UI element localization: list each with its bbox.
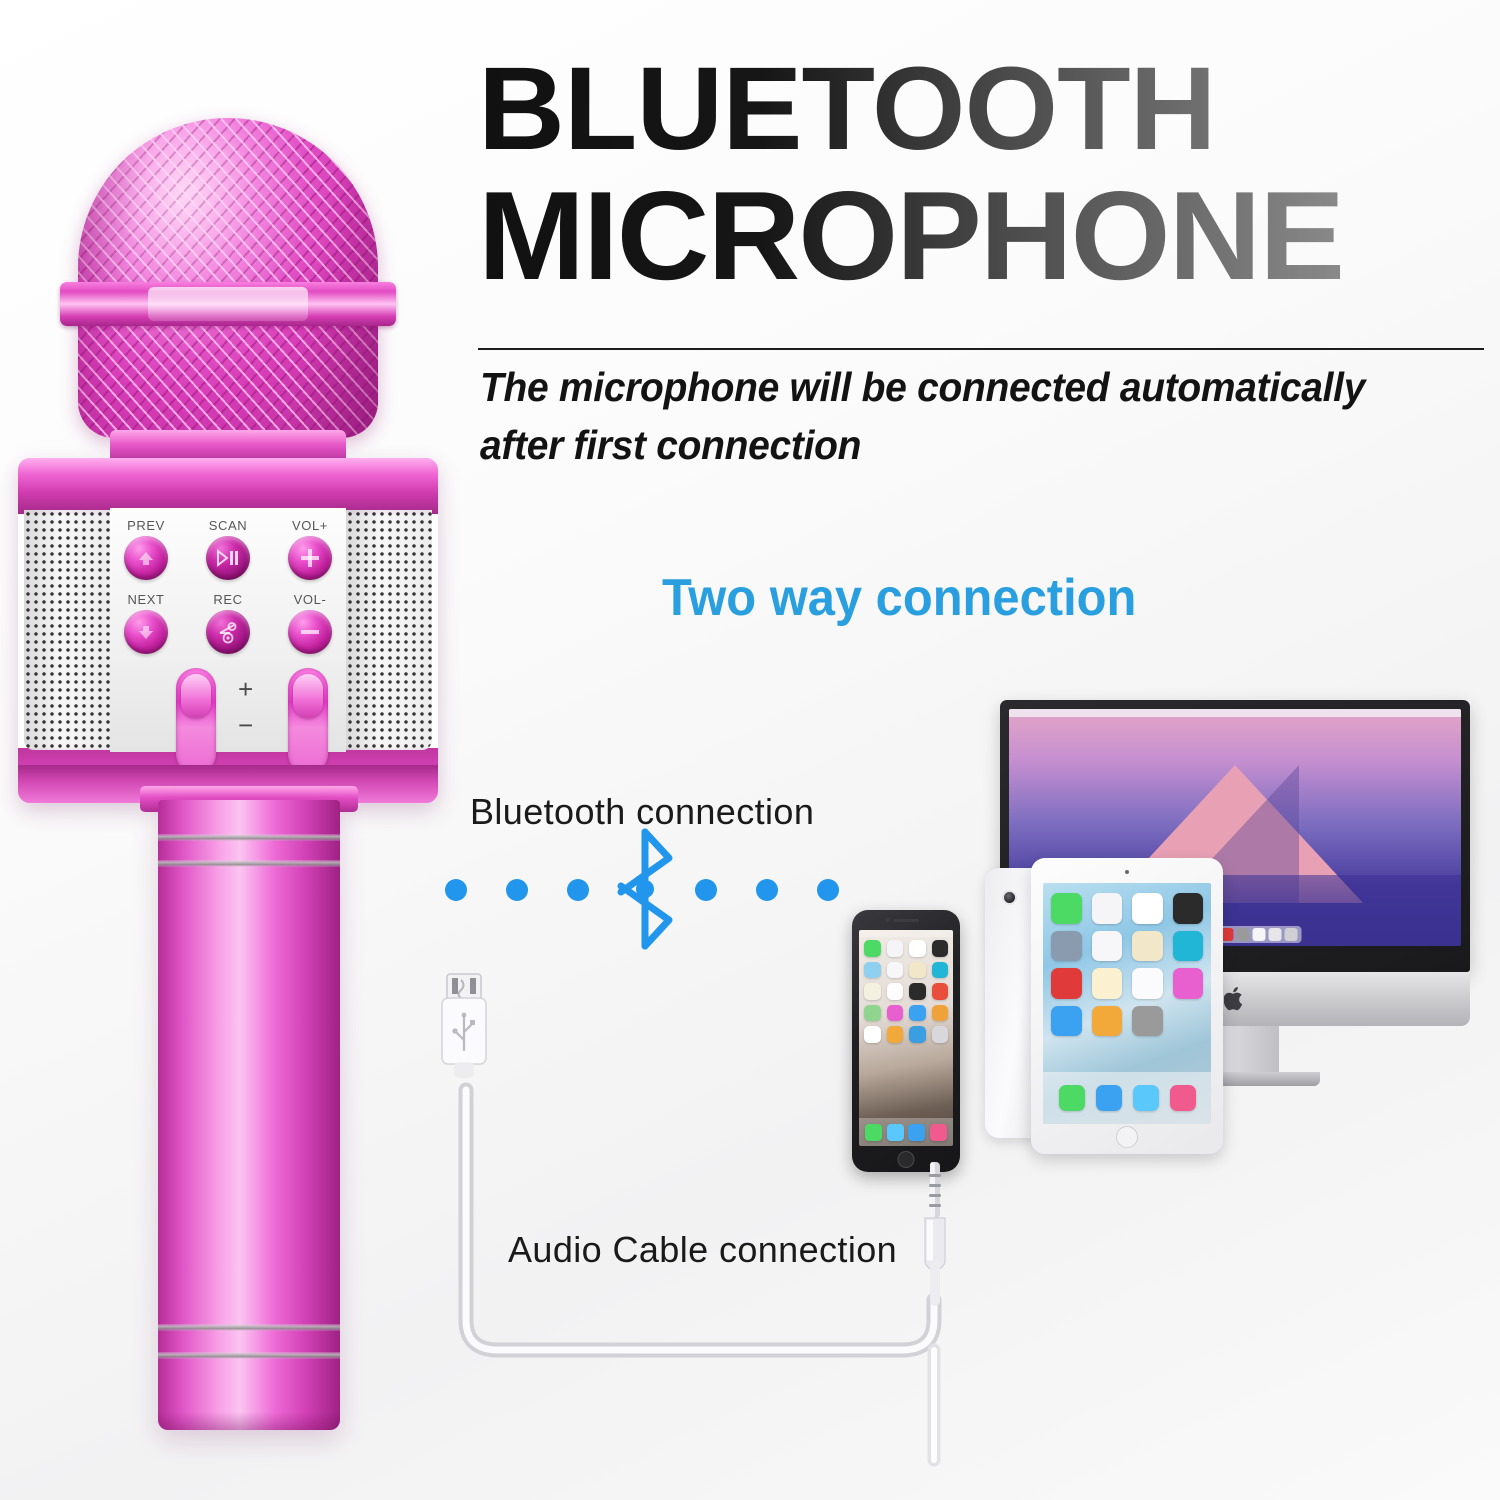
app-icon[interactable] xyxy=(1132,1006,1163,1037)
scan-label: SCAN xyxy=(198,518,258,533)
two-way-connection-heading: Two way connection xyxy=(662,568,1136,628)
app-icon[interactable] xyxy=(932,1005,949,1022)
iphone-dock[interactable] xyxy=(859,1118,953,1146)
app-icon[interactable] xyxy=(1051,931,1082,962)
prev-label: PREV xyxy=(116,518,176,533)
iphone-home-button[interactable] xyxy=(898,1151,915,1168)
app-icon[interactable] xyxy=(1173,893,1204,924)
next-button[interactable] xyxy=(124,610,168,654)
speaker-grille-right xyxy=(346,510,432,750)
handle-ring xyxy=(158,1324,340,1331)
app-icon[interactable] xyxy=(909,1026,926,1043)
app-icon[interactable] xyxy=(887,962,904,979)
app-icon[interactable] xyxy=(1051,1006,1082,1037)
volume-down-button[interactable] xyxy=(288,610,332,654)
app-icon[interactable] xyxy=(1132,931,1163,962)
app-icon[interactable] xyxy=(1092,968,1123,999)
app-icon[interactable] xyxy=(932,1026,949,1043)
app-icon[interactable] xyxy=(864,1026,881,1043)
app-icon[interactable] xyxy=(1173,931,1204,962)
app-icon[interactable] xyxy=(887,1026,904,1043)
headline-divider xyxy=(478,348,1484,350)
product-infographic: BLUETOOTH MICROPHONE The microphone will… xyxy=(0,0,1500,1500)
ipad-device xyxy=(985,858,1235,1158)
slider-minus-marker: − xyxy=(238,712,253,738)
iphone-screen[interactable] xyxy=(859,930,953,1146)
iphone-device xyxy=(852,910,960,1172)
remix-slider-knob[interactable] xyxy=(293,674,323,718)
app-icon[interactable] xyxy=(1051,968,1082,999)
bluetooth-dot xyxy=(817,879,839,901)
ipad-screen[interactable] xyxy=(1043,883,1211,1124)
app-icon[interactable] xyxy=(864,983,881,1000)
minus-icon xyxy=(299,621,321,643)
handle-bottom-shading xyxy=(158,1412,340,1430)
app-icon[interactable] xyxy=(909,940,926,957)
dock-app-icon[interactable] xyxy=(1096,1085,1122,1111)
rec-label: REC xyxy=(198,592,258,607)
app-icon[interactable] xyxy=(1132,968,1163,999)
grille-highlight xyxy=(78,118,378,438)
next-label: NEXT xyxy=(116,592,176,607)
chevron-up-icon xyxy=(135,547,157,569)
play-pause-icon xyxy=(216,549,240,567)
dock-app-icon[interactable] xyxy=(1170,1085,1196,1111)
iphone-app-grid[interactable] xyxy=(864,940,948,1043)
chevron-down-icon xyxy=(135,621,157,643)
micro-usb-connector-icon xyxy=(436,972,492,1096)
ipad-front xyxy=(1031,858,1223,1154)
handle-ring xyxy=(158,834,340,841)
record-microphone-icon xyxy=(216,620,240,644)
app-icon[interactable] xyxy=(932,983,949,1000)
iphone-earpiece-icon xyxy=(893,919,919,922)
record-button[interactable] xyxy=(206,610,250,654)
control-panel: PREV SCAN VOL+ xyxy=(110,508,346,752)
app-icon[interactable] xyxy=(864,1005,881,1022)
bluetooth-icon xyxy=(614,826,676,952)
bluetooth-dot xyxy=(567,879,589,901)
ipad-dock[interactable] xyxy=(1043,1072,1211,1124)
scan-button[interactable] xyxy=(206,536,250,580)
bluetooth-dot xyxy=(695,879,717,901)
vol-down-label: VOL- xyxy=(280,592,340,607)
iphone-front-camera-icon xyxy=(886,918,890,922)
app-icon[interactable] xyxy=(909,983,926,1000)
app-icon[interactable] xyxy=(1051,893,1082,924)
handle-ring xyxy=(158,860,340,867)
ipad-app-grid[interactable] xyxy=(1051,893,1203,1036)
app-icon[interactable] xyxy=(932,962,949,979)
plus-icon xyxy=(299,547,321,569)
bluetooth-signal-row xyxy=(445,868,845,912)
app-icon[interactable] xyxy=(864,940,881,957)
app-icon[interactable] xyxy=(887,940,904,957)
volume-up-button[interactable] xyxy=(288,536,332,580)
audio-cable-connection-label: Audio Cable connection xyxy=(508,1229,897,1271)
app-icon[interactable] xyxy=(1092,893,1123,924)
remix-slider[interactable] xyxy=(288,668,328,774)
ipad-home-button[interactable] xyxy=(1116,1126,1138,1148)
mic-volume-slider[interactable] xyxy=(176,668,216,774)
ipad-front-camera-icon xyxy=(1125,870,1129,874)
iphone-body xyxy=(852,910,960,1172)
app-icon[interactable] xyxy=(887,1005,904,1022)
audio-jack-connector-icon xyxy=(918,1158,952,1308)
app-icon[interactable] xyxy=(909,1005,926,1022)
microphone-handle xyxy=(158,800,340,1430)
body-top-rim xyxy=(18,458,438,514)
app-icon[interactable] xyxy=(932,940,949,957)
app-icon[interactable] xyxy=(1092,931,1123,962)
app-icon[interactable] xyxy=(864,962,881,979)
speaker-grille-left xyxy=(24,510,110,750)
dock-app-icon[interactable] xyxy=(865,1124,882,1141)
dock-app-icon[interactable] xyxy=(887,1124,904,1141)
dock-app-icon[interactable] xyxy=(1133,1085,1159,1111)
title-line-1: BLUETOOTH xyxy=(478,52,1498,168)
title-line-2: MICROPHONE xyxy=(478,174,1498,297)
headline-block: BLUETOOTH MICROPHONE xyxy=(478,52,1478,297)
dock-app-icon[interactable] xyxy=(908,1124,925,1141)
slider-plus-marker: + xyxy=(238,676,253,702)
app-icon[interactable] xyxy=(1173,968,1204,999)
ipad-rear-camera-icon xyxy=(1002,890,1017,905)
handle-ring xyxy=(158,1352,340,1359)
bluetooth-dot xyxy=(506,879,528,901)
grille-center-band xyxy=(60,282,396,326)
subtitle-text: The microphone will be connected automat… xyxy=(480,358,1440,474)
prev-button[interactable] xyxy=(124,536,168,580)
dock-app-icon[interactable] xyxy=(1059,1085,1085,1111)
dock-app-icon[interactable] xyxy=(930,1124,947,1141)
vol-up-label: VOL+ xyxy=(280,518,340,533)
microphone-grille-head xyxy=(78,118,378,438)
app-icon[interactable] xyxy=(1132,893,1163,924)
app-icon[interactable] xyxy=(1092,1006,1123,1037)
bluetooth-dot xyxy=(756,879,778,901)
mic-volume-slider-knob[interactable] xyxy=(181,674,211,718)
app-icon[interactable] xyxy=(909,962,926,979)
iphone-status-bar xyxy=(859,930,953,937)
app-icon[interactable] xyxy=(887,983,904,1000)
bluetooth-dot xyxy=(445,879,467,901)
microphone-control-body: PREV SCAN VOL+ xyxy=(18,458,438,803)
bluetooth-microphone-product: PREV SCAN VOL+ xyxy=(0,100,470,1450)
